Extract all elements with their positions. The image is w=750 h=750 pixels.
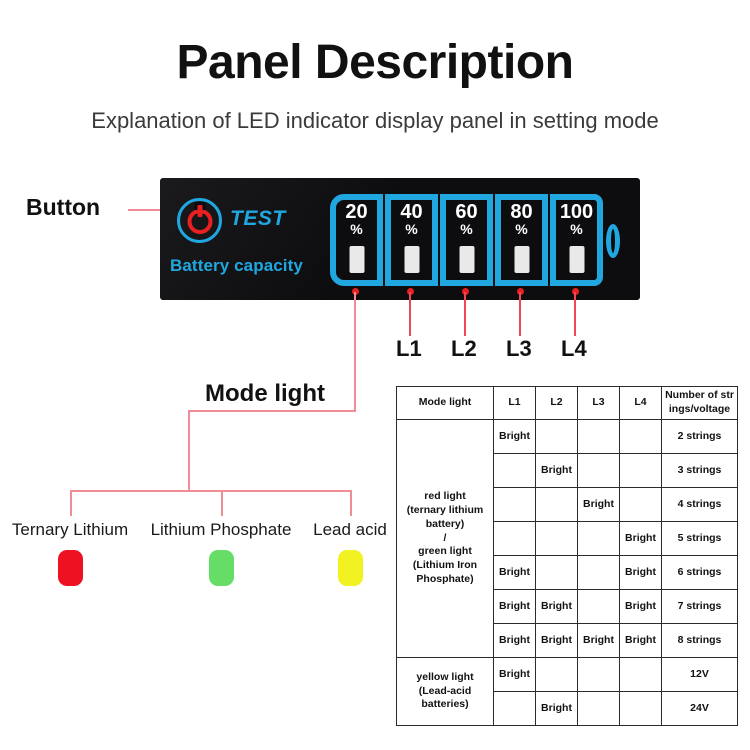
table-cell-l3 <box>578 658 620 692</box>
segment-percent-value: 40 <box>391 202 432 223</box>
segment-led <box>459 246 474 273</box>
battery-segment: 20 % <box>330 194 383 286</box>
battery-terminal-icon <box>606 224 620 258</box>
battery-segment: 60 % <box>440 194 493 286</box>
button-callout-label: Button <box>26 194 100 221</box>
table-cell-strings-voltage: 7 strings <box>662 590 738 624</box>
segment-percent-unit: % <box>446 222 487 236</box>
table-cell-l2: Bright <box>536 590 578 624</box>
table-cell-l1: Bright <box>494 420 536 454</box>
table-cell-l2: Bright <box>536 692 578 726</box>
table-cell-l4 <box>620 658 662 692</box>
table-cell-l2 <box>536 658 578 692</box>
table-cell-l1 <box>494 522 536 556</box>
table-cell-l2 <box>536 420 578 454</box>
battery-segment: 40 % <box>385 194 438 286</box>
l2-leader-line <box>464 292 466 336</box>
table-cell-l3 <box>578 454 620 488</box>
table-cell-l1: Bright <box>494 624 536 658</box>
table-cell-l4 <box>620 454 662 488</box>
mode-light-spec-table: Mode light L1 L2 L3 L4 Number of str ing… <box>396 386 738 726</box>
mode-light-pill-lead-acid <box>338 550 363 586</box>
mode-branch-lead-acid <box>350 490 352 516</box>
table-cell-strings-voltage: 24V <box>662 692 738 726</box>
table-cell-l2 <box>536 556 578 590</box>
l4-leader-line <box>574 292 576 336</box>
table-cell-l3: Bright <box>578 624 620 658</box>
mode-light-name-ternary: Ternary Lithium <box>5 520 135 540</box>
table-cell-l2: Bright <box>536 454 578 488</box>
mode-light-label: Mode light <box>205 380 325 408</box>
table-cell-l3 <box>578 692 620 726</box>
mode-light-crossbar-top <box>188 410 356 412</box>
table-cell-l3 <box>578 556 620 590</box>
power-icon-bar <box>197 205 202 217</box>
table-cell-l4 <box>620 692 662 726</box>
table-header-strings-voltage: Number of str ings/voltage <box>662 387 738 420</box>
led-label-l3: L3 <box>506 336 532 362</box>
table-header-l2: L2 <box>536 387 578 420</box>
table-cell-strings-voltage: 6 strings <box>662 556 738 590</box>
led-label-l4: L4 <box>561 336 587 362</box>
table-cell-l2 <box>536 522 578 556</box>
table-header-row: Mode light L1 L2 L3 L4 Number of str ing… <box>397 387 738 420</box>
table-cell-l1 <box>494 454 536 488</box>
segment-percent-unit: % <box>336 222 377 236</box>
mode-light-crossbar-bottom <box>70 490 352 492</box>
table-cell-l3 <box>578 420 620 454</box>
battery-graphic: 20 % 40 % 60 % 80 % 100 % <box>330 194 618 286</box>
led-label-l2: L2 <box>451 336 477 362</box>
table-cell-l4 <box>620 420 662 454</box>
table-cell-l4: Bright <box>620 624 662 658</box>
page-title: Panel Description <box>0 38 750 88</box>
mode-light-trunk-upper <box>354 292 356 410</box>
table-cell-l3 <box>578 590 620 624</box>
power-button[interactable] <box>177 198 222 243</box>
table-cell-l1: Bright <box>494 556 536 590</box>
segment-led <box>514 246 529 273</box>
table-header-l1: L1 <box>494 387 536 420</box>
table-cell-l2 <box>536 488 578 522</box>
table-cell-mode-light: yellow light(Lead-acid batteries) <box>397 658 494 726</box>
table-header-l4: L4 <box>620 387 662 420</box>
l1-leader-line <box>409 292 411 336</box>
table-cell-l4: Bright <box>620 590 662 624</box>
table-cell-strings-voltage: 4 strings <box>662 488 738 522</box>
test-label: TEST <box>230 207 286 231</box>
l3-leader-line <box>519 292 521 336</box>
mode-branch-ternary <box>70 490 72 516</box>
table-cell-strings-voltage: 5 strings <box>662 522 738 556</box>
page-subtitle: Explanation of LED indicator display pan… <box>0 108 750 134</box>
table-cell-l3: Bright <box>578 488 620 522</box>
segment-percent-unit: % <box>556 222 597 236</box>
table-cell-mode-light: red light(ternary lithium battery)/green… <box>397 420 494 658</box>
battery-segment: 100 % <box>550 194 603 286</box>
mode-light-name-lead-acid: Lead acid <box>303 520 397 540</box>
segment-led <box>349 246 364 273</box>
mode-light-pill-ternary <box>58 550 83 586</box>
mode-branch-phosphate <box>221 490 223 516</box>
table-cell-l3 <box>578 522 620 556</box>
led-label-l1: L1 <box>396 336 422 362</box>
table-cell-l4: Bright <box>620 522 662 556</box>
segment-percent-value: 80 <box>501 202 542 223</box>
mode-light-trunk-lower <box>188 410 190 490</box>
table-cell-strings-voltage: 12V <box>662 658 738 692</box>
table-cell-strings-voltage: 2 strings <box>662 420 738 454</box>
table-header-l3: L3 <box>578 387 620 420</box>
table-cell-l1 <box>494 692 536 726</box>
segment-led <box>569 246 584 273</box>
table-cell-l1: Bright <box>494 590 536 624</box>
table-header-mode-light: Mode light <box>397 387 494 420</box>
table-cell-l1 <box>494 488 536 522</box>
table-cell-l4: Bright <box>620 556 662 590</box>
mode-light-pill-phosphate <box>209 550 234 586</box>
table-row: yellow light(Lead-acid batteries)Bright1… <box>397 658 738 692</box>
segment-led <box>404 246 419 273</box>
segment-percent-value: 60 <box>446 202 487 223</box>
table-row: red light(ternary lithium battery)/green… <box>397 420 738 454</box>
segment-percent-value: 20 <box>336 202 377 223</box>
battery-segment: 80 % <box>495 194 548 286</box>
table-cell-l1: Bright <box>494 658 536 692</box>
table-cell-strings-voltage: 8 strings <box>662 624 738 658</box>
battery-capacity-label: Battery capacity <box>170 256 303 276</box>
table-cell-l4 <box>620 488 662 522</box>
segment-percent-unit: % <box>501 222 542 236</box>
segment-percent-value: 100 <box>556 202 597 223</box>
table-cell-l2: Bright <box>536 624 578 658</box>
mode-light-name-phosphate: Lithium Phosphate <box>146 520 296 540</box>
segment-percent-unit: % <box>391 222 432 236</box>
table-cell-strings-voltage: 3 strings <box>662 454 738 488</box>
led-indicator-panel: TEST Battery capacity 20 % 40 % 60 % 80 … <box>160 178 640 300</box>
